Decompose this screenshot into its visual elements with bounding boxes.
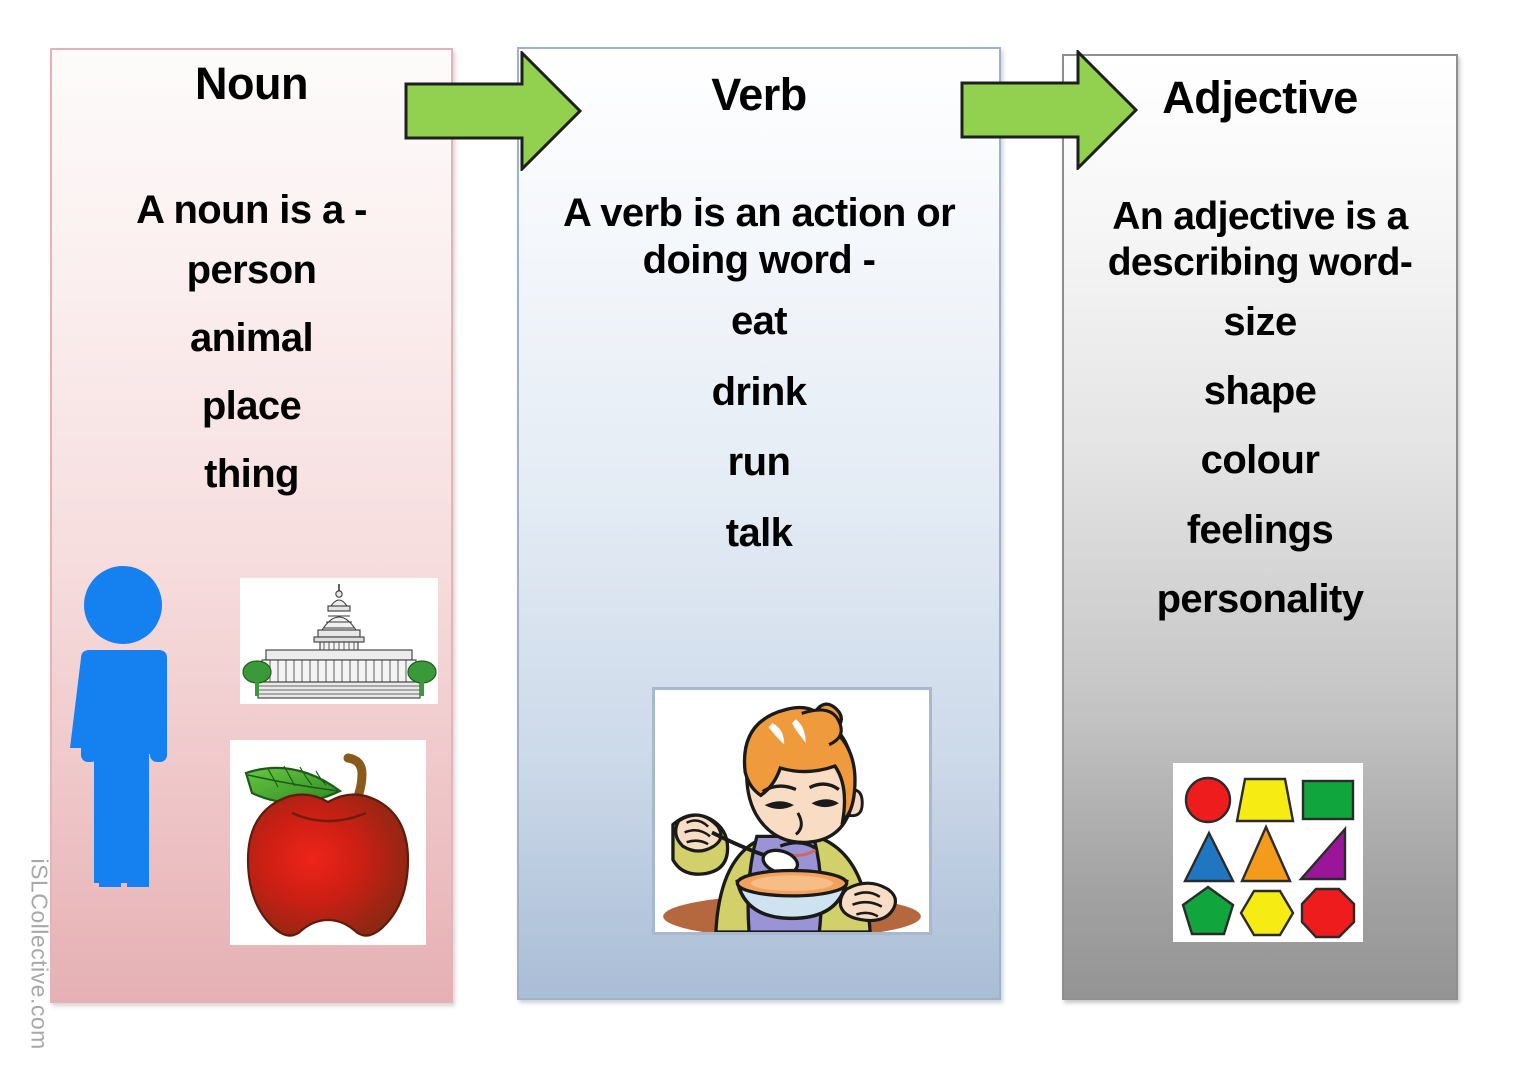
- shape-rectangle-green: [1303, 781, 1353, 819]
- shape-circle-red: [1186, 778, 1230, 822]
- adjective-word-personality: personality: [1064, 565, 1456, 634]
- arrow-verb-to-adjective-icon: [960, 50, 1138, 170]
- adjective-word-size: size: [1064, 288, 1456, 357]
- girl-eating-soup-image: [652, 687, 932, 935]
- verb-word-run: run: [519, 427, 999, 497]
- noun-word-place: place: [52, 372, 451, 440]
- shape-octagon-red: [1302, 889, 1354, 937]
- noun-word-person: person: [52, 236, 451, 304]
- adjective-word-shape: shape: [1064, 357, 1456, 426]
- noun-word-list: person animal place thing: [52, 236, 451, 508]
- noun-definition: A noun is a -: [52, 187, 451, 234]
- noun-word-thing: thing: [52, 440, 451, 508]
- verb-word-eat: eat: [519, 286, 999, 356]
- islcollective-watermark: iSLCollective.com: [26, 859, 53, 1089]
- verb-word-list: eat drink run talk: [519, 286, 999, 568]
- shape-hexagon-yellow: [1241, 891, 1293, 935]
- verb-word-talk: talk: [519, 498, 999, 568]
- noun-title: Noun: [52, 58, 451, 110]
- adjective-word-list: size shape colour feelings personality: [1064, 288, 1456, 634]
- adjective-word-feelings: feelings: [1064, 496, 1456, 565]
- verb-title: Verb: [519, 69, 999, 121]
- shape-trapezoid-yellow: [1237, 779, 1293, 821]
- noun-word-animal: animal: [52, 304, 451, 372]
- verb-definition: A verb is an action or doing word -: [519, 190, 999, 284]
- apple-image: [230, 740, 426, 945]
- coloured-shapes-grid-image: [1173, 763, 1363, 942]
- verb-word-drink: drink: [519, 357, 999, 427]
- adjective-definition: An adjective is a describing word-: [1064, 194, 1456, 286]
- person-pictogram-image: [65, 562, 200, 887]
- capitol-building-image: [240, 578, 438, 704]
- adjective-word-colour: colour: [1064, 426, 1456, 495]
- arrow-noun-to-verb-icon: [404, 51, 582, 171]
